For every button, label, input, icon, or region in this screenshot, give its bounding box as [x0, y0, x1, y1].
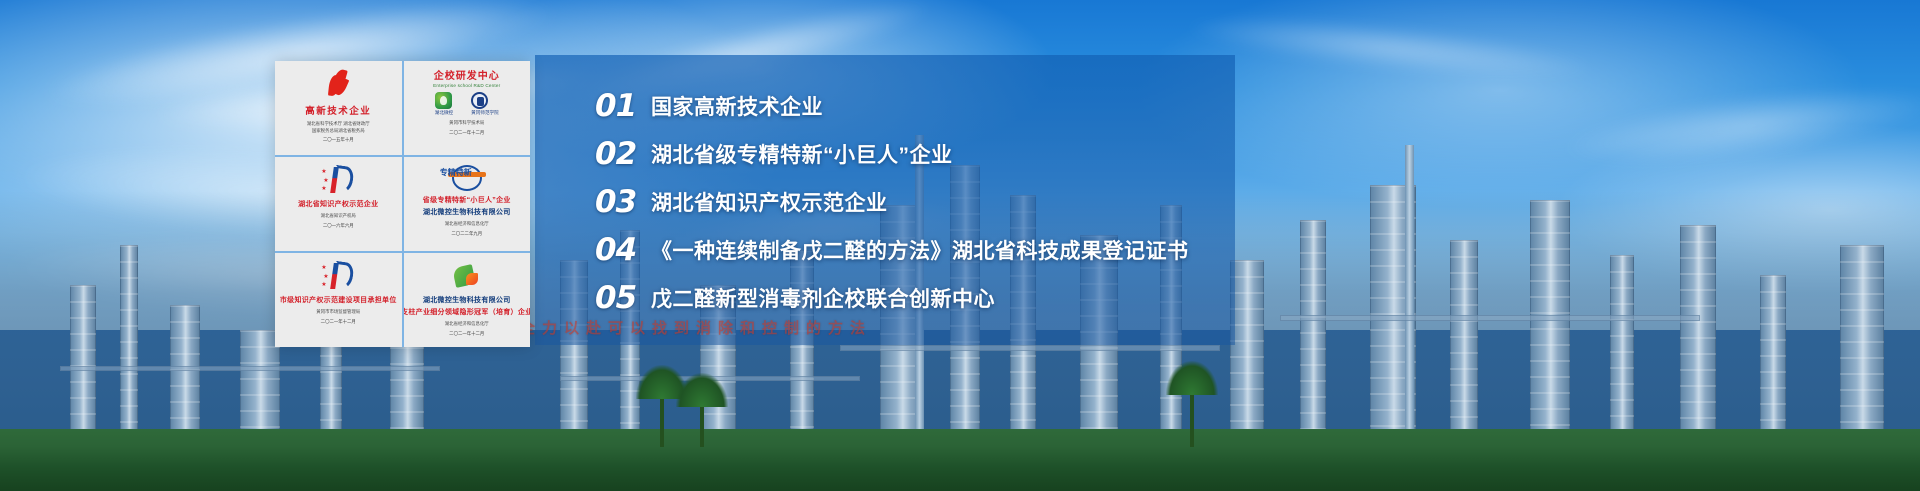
cloud-wisp [1179, 4, 1601, 92]
shrub [1720, 441, 1870, 485]
plant-tower [1300, 220, 1326, 435]
certificate-card-4[interactable]: 专精特新 省级专精特新“小巨人”企业 湖北微控生物科技有限公司 湖北省经济和信息… [404, 157, 531, 251]
achievements-list: 01 国家高新技术企业 02 湖北省级专精特新“小巨人”企业 03 湖北省知识产… [595, 82, 1235, 322]
certificate-subtitle: 支柱产业细分领域隐形冠军（培育）企业 [404, 307, 531, 317]
palm-tree [660, 391, 664, 447]
certificate-subtitle: 省级专精特新“小巨人”企业 [423, 195, 511, 205]
achievement-number: 03 [595, 184, 651, 220]
certificate-title-en: Enterprise school R&D Center [433, 83, 500, 88]
plant-tower [1230, 260, 1264, 435]
huanggang-normal-university-icon [471, 92, 488, 109]
achievement-label: 《一种连续制备戊二醛的方法》湖北省科技成果登记证书 [651, 235, 1189, 265]
certificate-title: 湖北微控生物科技有限公司 [423, 295, 511, 305]
certificate-issuer: 湖北省知识产权局 [321, 213, 356, 220]
plant-tower [120, 245, 138, 435]
certificate-title: 市级知识产权示范建设项目承担单位 [280, 295, 397, 305]
certificate-card-1[interactable]: 高新技术企业 湖北省科学技术厅 湖北省财政厅 国家税务总局湖北省税务局 二〇一五… [275, 61, 402, 155]
cloud-wisp [1558, 73, 1920, 179]
plant-tower [240, 330, 280, 435]
shrub [1500, 449, 1600, 485]
badge-left-label: 湖北微控 [435, 110, 453, 116]
achievement-item-02: 02 湖北省级专精特新“小巨人”企业 [595, 130, 1235, 178]
plant-stack [1405, 145, 1414, 435]
plant-tower [1680, 225, 1716, 435]
plant-tower [70, 285, 96, 435]
shrub [30, 449, 120, 485]
blue-p-star-icon: ★★★ [321, 259, 355, 293]
achievement-item-04: 04 《一种连续制备戊二醛的方法》湖北省科技成果登记证书 [595, 226, 1235, 274]
achievement-number: 05 [595, 280, 651, 316]
plant-deck [1280, 315, 1700, 321]
achievement-label: 湖北省级专精特新“小巨人”企业 [651, 139, 953, 169]
certificate-company: 湖北微控生物科技有限公司 [423, 207, 511, 217]
shrub [150, 455, 220, 485]
certificate-title: 高新技术企业 [305, 103, 371, 117]
achievement-number: 02 [595, 136, 651, 172]
badge-right-label: 黄冈师范学院 [471, 110, 499, 116]
shrub [1260, 443, 1390, 485]
certificate-card-5[interactable]: ★★★ 市级知识产权示范建设项目承担单位 黄冈市市场监督管理局 二〇二一年十二月 [275, 253, 402, 347]
shrub [760, 445, 880, 485]
rd-center-icon: 湖北微控 黄冈师范学院 [435, 92, 499, 116]
blue-p-star-icon: ★★★ [321, 163, 355, 197]
hubei-weikong-logo-icon [435, 92, 452, 109]
achievement-number: 01 [595, 88, 651, 124]
zhuanjingtexin-icon: 专精特新 [452, 163, 482, 193]
palm-tree [700, 399, 704, 447]
certificate-date: 二〇一六年六月 [323, 223, 354, 230]
banner-image: 全力以赴可以找到消除和控制的方法 01 国家高新技术企业 02 湖北省级专精特新… [0, 0, 1920, 491]
plant-tower [1610, 255, 1634, 435]
certificate-date: 二〇二一年十二月 [449, 331, 484, 338]
achievement-label: 湖北省知识产权示范企业 [651, 187, 888, 217]
certificate-title: 专精特新 [440, 167, 472, 178]
achievement-label: 戊二醛新型消毒剂企校联合创新中心 [651, 283, 995, 313]
plant-tower [1840, 245, 1884, 435]
certificate-issuer: 湖北省科学技术厅 湖北省财政厅 国家税务总局湖北省税务局 [307, 121, 370, 134]
certificate-card-2[interactable]: 企校研发中心 Enterprise school R&D Center 湖北微控… [404, 61, 531, 155]
certificate-issuer: 湖北省经济和信息化厅 [445, 221, 489, 228]
certificate-card-3[interactable]: ★★★ 湖北省知识产权示范企业 湖北省知识产权局 二〇一六年六月 [275, 157, 402, 251]
achievement-number: 04 [595, 232, 651, 268]
red-flame-icon [327, 67, 349, 101]
certificate-date: 二〇二一年十二月 [321, 319, 356, 326]
palm-tree [1190, 387, 1194, 447]
plant-tower [1450, 240, 1478, 435]
plant-deck [60, 366, 440, 371]
certificate-issuer: 湖北省经济和信息化厅 [445, 321, 489, 328]
achievement-item-01: 01 国家高新技术企业 [595, 82, 1235, 130]
achievement-label: 国家高新技术企业 [651, 91, 823, 121]
achievement-item-03: 03 湖北省知识产权示范企业 [595, 178, 1235, 226]
certificate-grid: 高新技术企业 湖北省科学技术厅 湖北省财政厅 国家税务总局湖北省税务局 二〇一五… [275, 61, 530, 347]
ground-vegetation [0, 429, 1920, 491]
certificate-issuer: 黄冈市科学技术局 [449, 120, 484, 127]
plant-tower [1760, 275, 1786, 435]
plant-deck [840, 345, 1220, 351]
certificate-title: 企校研发中心 [434, 67, 500, 82]
shrub [1020, 451, 1110, 485]
certificate-date: 二〇一五年十月 [323, 137, 354, 144]
certificate-card-6[interactable]: 湖北微控生物科技有限公司 支柱产业细分领域隐形冠军（培育）企业 湖北省经济和信息… [404, 253, 531, 347]
certificate-date: 二〇二一年十二月 [449, 130, 484, 137]
achievement-item-05: 05 戊二醛新型消毒剂企校联合创新中心 [595, 274, 1235, 322]
certificate-title: 湖北省知识产权示范企业 [298, 199, 378, 209]
green-orange-icon [454, 259, 480, 293]
shrub [520, 453, 600, 485]
certificate-issuer: 黄冈市市场监督管理局 [316, 309, 360, 316]
shrub [300, 447, 410, 485]
certificate-date: 二〇二二年九月 [451, 231, 482, 238]
